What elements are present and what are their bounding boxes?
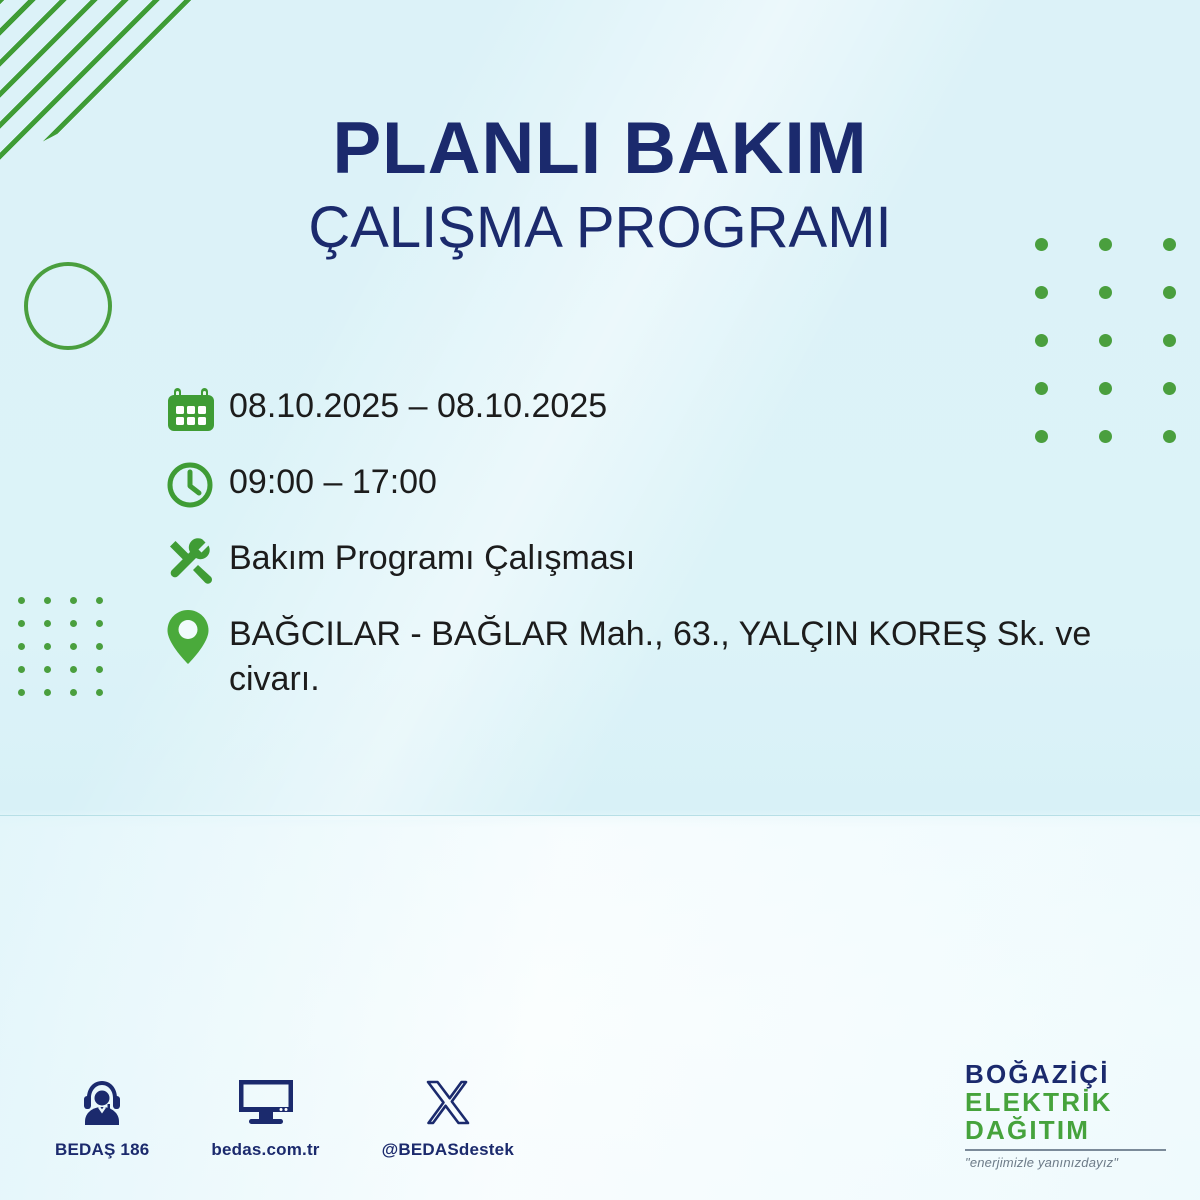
brand-line-bogazici: BOĞAZİÇİ xyxy=(965,1060,1180,1088)
location-text: BAĞCILAR - BAĞLAR Mah., 63., YALÇIN KORE… xyxy=(229,606,1129,702)
contact-x-account[interactable]: @BEDASdestek xyxy=(382,1072,514,1160)
info-row-location: BAĞCILAR - BAĞLAR Mah., 63., YALÇIN KORE… xyxy=(165,606,1175,702)
calendar-icon xyxy=(165,378,229,440)
footer-contacts: BEDAŞ 186 bedas.com.tr xyxy=(55,1072,576,1160)
info-row-time: 09:00 – 17:00 xyxy=(165,454,1175,516)
x-twitter-icon xyxy=(422,1072,474,1128)
contact-website[interactable]: bedas.com.tr xyxy=(211,1072,319,1160)
brand-divider xyxy=(965,1149,1166,1151)
info-list: 08.10.2025 – 08.10.2025 09:00 – 17:00 xyxy=(165,378,1175,716)
contact-x-label: @BEDASdestek xyxy=(382,1140,514,1160)
section-divider xyxy=(0,815,1200,816)
info-row-work-type: Bakım Programı Çalışması xyxy=(165,530,1175,592)
monitor-icon xyxy=(235,1072,297,1128)
headset-support-icon xyxy=(74,1072,130,1128)
time-range-text: 09:00 – 17:00 xyxy=(229,454,437,505)
date-range-text: 08.10.2025 – 08.10.2025 xyxy=(229,378,607,429)
info-row-date: 08.10.2025 – 08.10.2025 xyxy=(165,378,1175,440)
contact-phone[interactable]: BEDAŞ 186 xyxy=(55,1072,149,1160)
location-pin-icon xyxy=(165,606,229,668)
circle-outline-decoration xyxy=(24,262,112,350)
contact-website-label: bedas.com.tr xyxy=(211,1140,319,1160)
page-subtitle: ÇALIŞMA PROGRAMI xyxy=(0,193,1200,263)
work-type-text: Bakım Programı Çalışması xyxy=(229,530,635,581)
brand-line-dagitim: DAĞITIM xyxy=(965,1116,1180,1144)
tools-icon xyxy=(165,530,229,592)
poster-canvas: PLANLI BAKIM ÇALIŞMA PROGRAMI xyxy=(0,0,1200,1200)
clock-icon xyxy=(165,454,229,516)
brand-tagline: "enerjimizle yanınızdayız" xyxy=(965,1155,1180,1170)
dot-grid-left-decoration xyxy=(18,597,122,712)
brand-line-elektrik: ELEKTRİK xyxy=(965,1088,1180,1116)
brand-logo: BOĞAZİÇİ ELEKTRİK DAĞITIM "enerjimizle y… xyxy=(965,1060,1180,1170)
page-title: PLANLI BAKIM xyxy=(0,112,1200,185)
contact-phone-label: BEDAŞ 186 xyxy=(55,1140,149,1160)
page-header: PLANLI BAKIM ÇALIŞMA PROGRAMI xyxy=(0,112,1200,263)
